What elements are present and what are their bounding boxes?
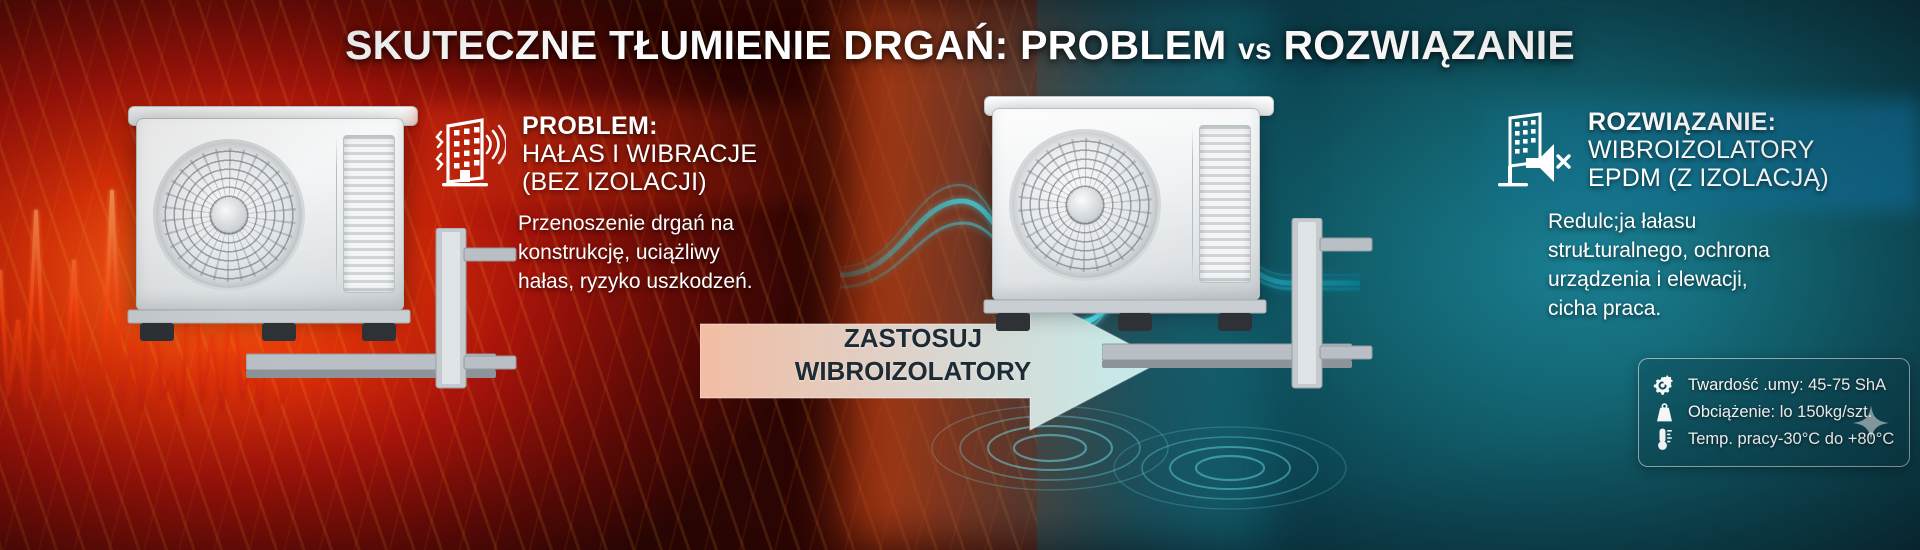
- solution-body-line2: struŁturalnego, ochrona: [1548, 237, 1918, 266]
- weight-icon: [1651, 400, 1677, 424]
- vibrating-building-icon: [432, 112, 506, 195]
- banner-title: SKUTECZNE TŁUMIENIE DRGAŃ: PROBLEM vs RO…: [0, 22, 1920, 69]
- solution-heading-line2: WIBROIZOLATORY: [1588, 136, 1829, 164]
- thermometer-icon: [1651, 427, 1677, 451]
- gears-icon: [1651, 373, 1677, 397]
- solution-body-line3: urządzenia i elewacji,: [1548, 266, 1918, 295]
- solution-heading-line3: EPDM (Z IZOLACJĄ): [1588, 164, 1829, 192]
- solution-body-line1: Redulc;ja łałasu: [1548, 208, 1918, 237]
- infographic-banner: SKUTECZNE TŁUMIENIE DRGAŃ: PROBLEM vs RO…: [0, 0, 1920, 550]
- problem-panel: PROBLEM: HAŁAS I WIBRACJE (BEZ IZOLACJI): [432, 112, 757, 196]
- fan-hub: [1068, 188, 1102, 222]
- title-part1: SKUTECZNE TŁUMIENIE DRGAŃ: PROBLEM: [345, 22, 1238, 68]
- problem-heading-line1: PROBLEM:: [522, 112, 757, 140]
- building-muted-speaker-icon: [1492, 108, 1572, 197]
- fan-hub: [212, 198, 246, 232]
- spec-text-hardness: Twardość .umy: 45-75 ShA: [1688, 376, 1886, 395]
- title-part2: ROZWIĄZANIE: [1272, 22, 1575, 68]
- solution-body-line4: cicha praca.: [1548, 295, 1918, 324]
- problem-heading-line3: (BEZ IZOLACJI): [522, 168, 757, 196]
- specs-box: Twardość .umy: 45-75 ShA Obciążenie: lo …: [1638, 358, 1910, 467]
- spec-row-hardness: Twardość .umy: 45-75 ShA: [1651, 373, 1897, 397]
- wall-bracket-problem: [246, 228, 536, 408]
- sparkle-icon: [1851, 403, 1891, 443]
- arrow-label-line2: WIBROIZOLATORY: [788, 355, 1038, 388]
- solution-heading-line1: ROZWIĄZANIE:: [1588, 108, 1829, 136]
- solution-panel: ROZWIĄZANIE: WIBROIZOLATORY EPDM (Z IZOL…: [1492, 108, 1829, 197]
- problem-heading-text: PROBLEM: HAŁAS I WIBRACJE (BEZ IZOLACJI): [522, 112, 757, 196]
- problem-body-line2: konstrukcję, uciążliwy: [518, 239, 808, 268]
- solution-body-text: Redulc;ja łałasu struŁturalnego, ochrona…: [1548, 208, 1918, 324]
- problem-body-line1: Przenoszenie drgań na: [518, 210, 808, 239]
- problem-body-text: Przenoszenie drgań na konstrukcję, uciąż…: [518, 210, 808, 297]
- problem-heading-line2: HAŁAS I WIBRACJE: [522, 140, 757, 168]
- spec-text-load: Obciążenie: lo 150kg/szt.: [1688, 403, 1872, 422]
- solution-heading-text: ROZWIĄZANIE: WIBROIZOLATORY EPDM (Z IZOL…: [1588, 108, 1829, 192]
- wall-bracket-solution: [1102, 218, 1392, 408]
- title-vs: vs: [1238, 33, 1272, 66]
